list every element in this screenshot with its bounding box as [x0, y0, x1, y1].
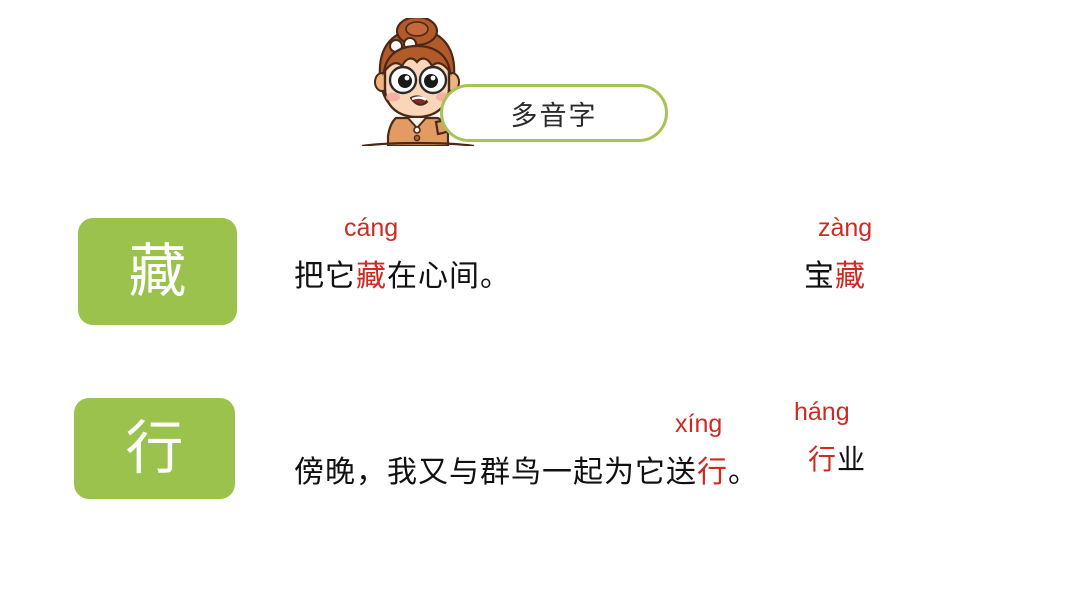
example-word: 宝藏 — [804, 262, 866, 292]
example-part: 傍晚，我又与群鸟一起为它送 — [294, 456, 697, 489]
example-part-highlight: 藏 — [356, 260, 387, 293]
character-tile-glyph: 行 — [125, 420, 183, 478]
character-tile-0: 藏 — [78, 218, 237, 325]
pinyin-label: xíng — [675, 412, 722, 437]
pinyin-label: cáng — [344, 216, 398, 241]
character-tile-glyph: 藏 — [128, 243, 186, 301]
example-part: 把它 — [294, 260, 356, 293]
entry-row: 行 xíng 傍晚，我又与群鸟一起为它送行。 háng 行业 — [0, 380, 1080, 530]
example-part: 。 — [728, 456, 759, 489]
banner-title: 多音字 — [443, 87, 665, 139]
pinyin-label: zàng — [818, 216, 872, 241]
example-part: 业 — [837, 444, 866, 475]
example-part-highlight: 行 — [697, 456, 728, 489]
character-tile-1: 行 — [74, 398, 235, 499]
example-part: 在心间。 — [387, 260, 511, 293]
example-sentence: 傍晚，我又与群鸟一起为它送行。 — [294, 458, 759, 488]
header: 多音字 — [360, 18, 690, 158]
example-part-highlight: 藏 — [835, 260, 866, 293]
section-banner: 多音字 — [440, 84, 668, 142]
example-part-highlight: 行 — [808, 444, 837, 475]
example-word: 行业 — [808, 446, 866, 474]
example-part: 宝 — [804, 260, 835, 293]
example-sentence: 把它藏在心间。 — [294, 262, 511, 292]
pinyin-label: háng — [794, 400, 850, 425]
entry-row: 藏 cáng 把它藏在心间。 zàng 宝藏 — [0, 200, 1080, 350]
